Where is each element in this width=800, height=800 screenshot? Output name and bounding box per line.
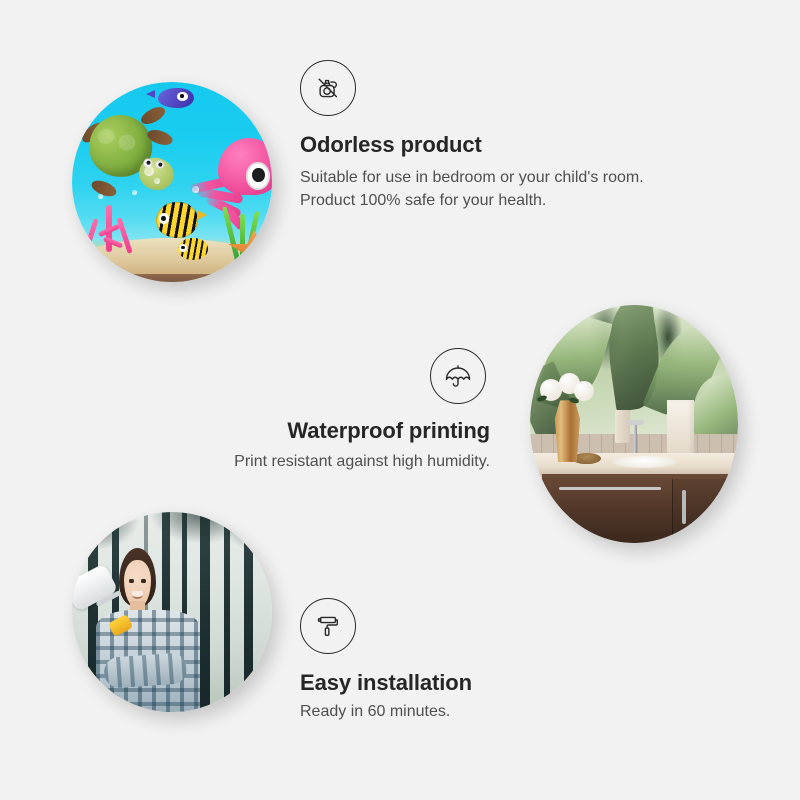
blue-fish	[158, 88, 194, 108]
photo-underwater-mural	[72, 82, 272, 282]
white-flowers	[536, 367, 598, 415]
yellow-fish-eye	[159, 213, 169, 225]
bathroom-scene	[530, 305, 738, 543]
hand-towel	[667, 400, 694, 457]
forest-mural-scene	[72, 512, 272, 712]
wood-vanity-cabinet	[542, 474, 738, 543]
bubble	[132, 190, 137, 195]
photo-forest-inner	[72, 512, 272, 712]
yellow-fish	[156, 202, 198, 238]
feature-easy-installation: Easy installation Ready in 60 minutes.	[300, 598, 630, 724]
no-odor-perfume-bottle-icon	[300, 60, 356, 116]
blue-fish-eye	[177, 92, 188, 100]
octopus-eye	[246, 162, 270, 190]
roller-grip	[107, 614, 132, 637]
blue-fish-tail	[146, 90, 155, 98]
feature-showcase: Odorless product Suitable for use in bed…	[0, 0, 800, 800]
turtle-eye	[154, 160, 165, 170]
feature-description: Print resistant against high humidity.	[178, 451, 490, 474]
photo-bathroom-inner	[530, 305, 738, 543]
bubble	[144, 166, 154, 176]
yellow-fish-small-eye	[179, 244, 187, 252]
soap-dispenser	[615, 410, 630, 443]
paint-roller-tool	[72, 572, 148, 664]
feature-title: Waterproof printing	[178, 418, 490, 444]
feature-title: Easy installation	[300, 670, 630, 696]
sink-basin	[613, 456, 675, 468]
photo-bathroom-wallpaper	[530, 305, 738, 543]
photo-forest-installer	[72, 512, 272, 712]
waterproof-icon-wrap	[178, 348, 490, 418]
photo-underwater-inner	[72, 82, 272, 282]
feature-waterproof-printing: Waterproof printing Print resistant agai…	[178, 348, 490, 474]
cabinet-door	[672, 479, 734, 543]
feature-title: Odorless product	[300, 132, 680, 158]
umbrella-icon	[430, 348, 486, 404]
feature-description: Ready in 60 minutes.	[300, 701, 630, 724]
blue-fish-body	[158, 88, 194, 108]
room-floor	[72, 274, 272, 282]
feature-odorless-product: Odorless product Suitable for use in bed…	[300, 60, 680, 213]
pink-coral	[76, 202, 144, 270]
paint-roller-icon	[300, 598, 356, 654]
yellow-fish-small	[178, 238, 208, 260]
yellow-fish-tail	[197, 210, 207, 220]
feature-description: Suitable for use in bedroom or your chil…	[300, 167, 680, 212]
